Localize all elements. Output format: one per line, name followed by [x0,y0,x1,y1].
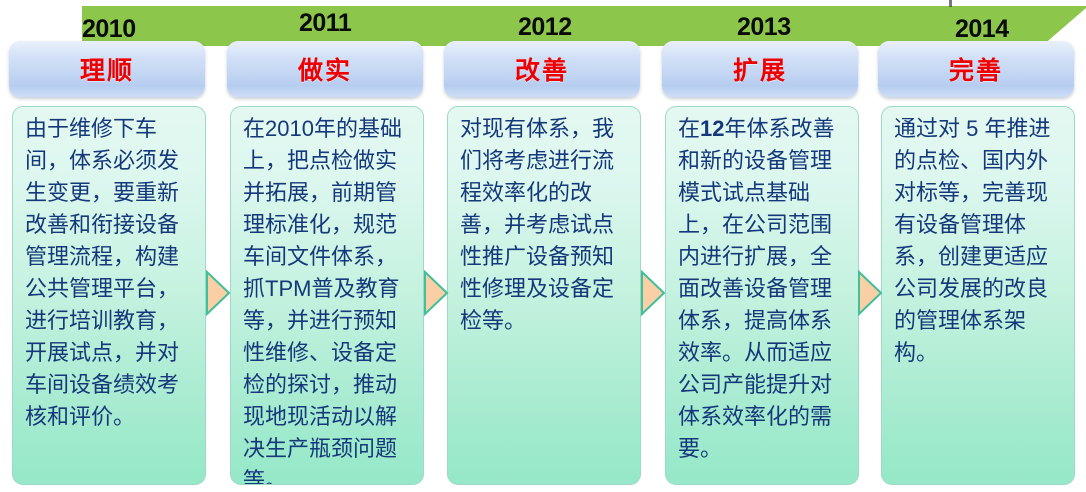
phase-card-2011[interactable]: 在2010年的基础上，把点检做实并拓展，前期管理标准化，规范车间文件体系，抓TP… [230,106,424,485]
roadmap-timeline: 2010 2011 2012 2013 2014 理顺 由于维修下车间，体系必须… [0,0,1086,492]
connector-arrow-2 [423,270,449,316]
timeline-column-2014: 完善 通过对 5 年推进的点检、国内外对标等，完善现有设备管理体系，创建更适应公… [872,0,1084,492]
triangle-right-icon [205,270,231,316]
triangle-right-icon [857,270,883,316]
connector-arrow-1 [205,270,231,316]
connector-arrow-4 [857,270,883,316]
phase-title-label: 改善 [515,51,569,87]
phase-card-text: 对现有体系，我们将考虑进行流程效率化的改善，并考虑试点性推广设备预知性修理及设备… [460,113,632,337]
phase-title-pill-2012[interactable]: 改善 [444,41,640,97]
timeline-column-2011: 做实 在2010年的基础上，把点检做实并拓展，前期管理标准化，规范车间文件体系，… [221,0,433,492]
phase-title-label: 完善 [949,51,1003,87]
phase-title-pill-2013[interactable]: 扩展 [662,41,858,97]
phase-card-text-pre: 在 [678,116,700,141]
phase-card-text-emphasis: 12 [700,116,724,141]
phase-title-pill-2010[interactable]: 理顺 [9,41,205,97]
phase-title-label: 做实 [298,51,352,87]
phase-card-2012[interactable]: 对现有体系，我们将考虑进行流程效率化的改善，并考虑试点性推广设备预知性修理及设备… [447,106,641,485]
timeline-column-2013: 扩展 在12年体系改善和新的设备管理模式试点基础上，在公司范围内进行扩展，全面改… [656,0,868,492]
timeline-column-2010: 理顺 由于维修下车间，体系必须发生变更，要重新改善和衔接设备管理流程，构建公共管… [3,0,215,492]
phase-card-2013[interactable]: 在12年体系改善和新的设备管理模式试点基础上，在公司范围内进行扩展，全面改善设备… [665,106,859,485]
connector-arrow-3 [640,270,666,316]
phase-card-text: 在2010年的基础上，把点检做实并拓展，前期管理标准化，规范车间文件体系，抓TP… [243,113,415,485]
phase-card-2010[interactable]: 由于维修下车间，体系必须发生变更，要重新改善和衔接设备管理流程，构建公共管理平台… [12,106,206,485]
phase-title-pill-2011[interactable]: 做实 [227,41,423,97]
timeline-column-2012: 改善 对现有体系，我们将考虑进行流程效率化的改善，并考虑试点性推广设备预知性修理… [438,0,650,492]
phase-title-pill-2014[interactable]: 完善 [878,41,1074,97]
phase-card-2014[interactable]: 通过对 5 年推进的点检、国内外对标等，完善现有设备管理体系，创建更适应公司发展… [881,106,1075,485]
phase-card-text-post: 年体系改善和新的设备管理模式试点基础上，在公司范围内进行扩展，全面改善设备管理体… [678,116,835,461]
phase-title-label: 理顺 [80,51,134,87]
phase-card-text: 在12年体系改善和新的设备管理模式试点基础上，在公司范围内进行扩展，全面改善设备… [678,113,850,465]
triangle-right-icon [423,270,449,316]
triangle-right-icon [640,270,666,316]
phase-title-label: 扩展 [733,51,787,87]
phase-card-text: 由于维修下车间，体系必须发生变更，要重新改善和衔接设备管理流程，构建公共管理平台… [25,113,197,433]
phase-card-text: 通过对 5 年推进的点检、国内外对标等，完善现有设备管理体系，创建更适应公司发展… [894,113,1066,369]
